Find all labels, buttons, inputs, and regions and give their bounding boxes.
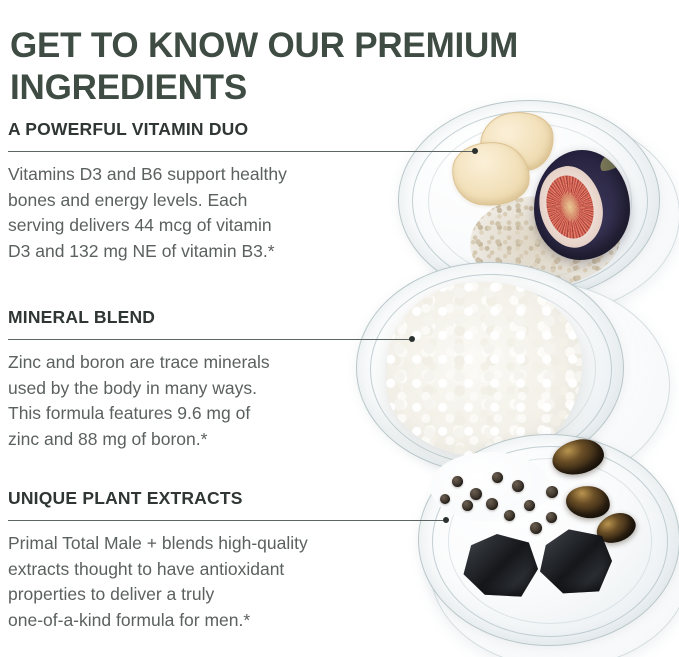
divider-endpoint-dot (443, 517, 449, 523)
section-title: A POWERFUL VITAMIN DUO (8, 118, 287, 140)
petri-dish-plant-extracts (418, 434, 679, 646)
section-divider (8, 515, 308, 527)
ingredient-section-mineral-blend: MINERAL BLEND Zinc and boron are trace m… (8, 306, 270, 452)
petri-dish-minerals-lid (392, 280, 670, 490)
black-peppercorn-icon (512, 480, 524, 492)
section-title: MINERAL BLEND (8, 306, 270, 328)
white-mineral-powder (386, 282, 582, 458)
black-peppercorn-icon (530, 522, 542, 534)
black-peppercorn-icon (440, 494, 450, 504)
black-peppercorn-icon (546, 512, 557, 523)
black-peppercorn-icon (524, 500, 535, 511)
section-body-text: Primal Total Male + blends high-quality … (8, 531, 308, 633)
ginger-slice-icon (449, 138, 533, 210)
section-body-text: Vitamins D3 and B6 support healthy bones… (8, 162, 287, 264)
fig-stem-icon (596, 150, 630, 174)
shilajit-resin-stone-icon (549, 435, 607, 479)
oat-powder (470, 196, 620, 288)
glass-dish-icon (356, 262, 624, 474)
black-mineral-rock-icon (462, 532, 538, 598)
shilajit-resin-stone-icon (592, 508, 639, 548)
black-peppercorn-icon (452, 476, 463, 487)
black-mineral-rock-icon (540, 528, 612, 594)
divider-endpoint-dot (409, 336, 415, 342)
powder-spill (430, 452, 550, 522)
section-divider (8, 334, 270, 346)
black-peppercorn-icon (492, 472, 503, 483)
divider-line (8, 339, 412, 340)
petri-dish-plant-extracts-lid (430, 470, 679, 657)
ginger-slice-icon (476, 107, 558, 177)
ingredient-section-vitamin-duo: A POWERFUL VITAMIN DUO Vitamins D3 and B… (8, 118, 287, 264)
divider-line (8, 520, 446, 521)
fig-flesh (534, 160, 611, 255)
black-peppercorn-icon (486, 498, 498, 510)
petri-dish-vitamins (398, 100, 660, 300)
petri-dish-minerals (356, 262, 624, 474)
petri-dish-vitamins-lid (420, 116, 679, 314)
black-peppercorn-icon (470, 488, 482, 500)
halved-fig-icon (534, 150, 630, 260)
black-peppercorn-icon (462, 500, 473, 511)
section-divider (8, 146, 287, 158)
page-title: GET TO KNOW OUR PREMIUM INGREDIENTS (10, 25, 660, 109)
divider-line (8, 151, 475, 152)
glass-dish-icon (398, 100, 660, 300)
section-body-text: Zinc and boron are trace minerals used b… (8, 350, 270, 452)
ingredients-infographic: GET TO KNOW OUR PREMIUM INGREDIENTS A PO… (0, 0, 679, 657)
black-peppercorn-icon (546, 486, 558, 498)
section-title: UNIQUE PLANT EXTRACTS (8, 487, 308, 509)
ingredient-section-plant-extracts: UNIQUE PLANT EXTRACTS Primal Total Male … (8, 487, 308, 633)
fig-pulp (540, 170, 600, 243)
shilajit-resin-stone-icon (564, 483, 612, 521)
glass-dish-icon (418, 434, 679, 646)
divider-endpoint-dot (472, 148, 478, 154)
black-peppercorn-icon (504, 510, 515, 521)
